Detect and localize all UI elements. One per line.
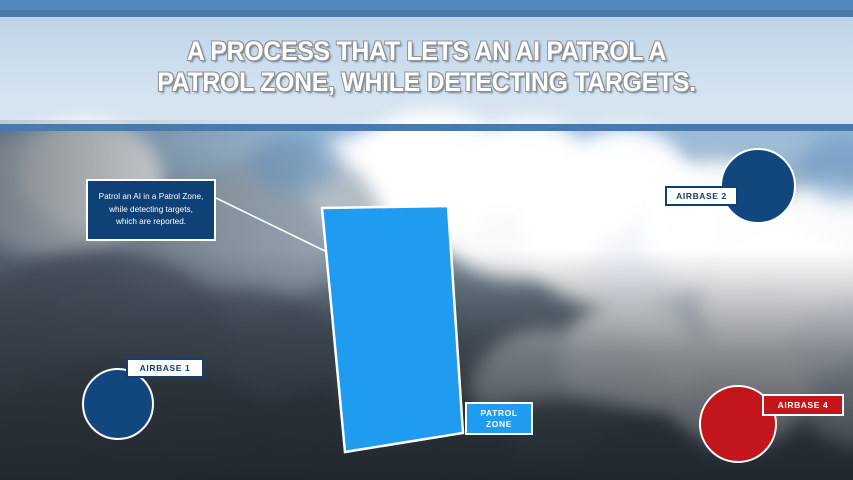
patrol-zone-shape[interactable] bbox=[322, 206, 463, 452]
airbase-1-label[interactable]: AIRBASE 1 bbox=[126, 358, 204, 378]
callout-box[interactable]: Patrol an AI in a Patrol Zone, while det… bbox=[86, 179, 216, 241]
callout-leader-line bbox=[216, 198, 327, 252]
airbase-4-label[interactable]: AIRBASE 4 bbox=[762, 394, 844, 416]
patrol-zone-label[interactable]: PATROL ZONE bbox=[465, 402, 533, 435]
airbase-1-marker[interactable] bbox=[83, 369, 153, 439]
airbase-2-label[interactable]: AIRBASE 2 bbox=[665, 186, 738, 206]
callout-text: Patrol an AI in a Patrol Zone, while det… bbox=[95, 191, 208, 229]
slide-canvas: A PROCESS THAT LETS AN AI PATROL A PATRO… bbox=[0, 0, 853, 480]
